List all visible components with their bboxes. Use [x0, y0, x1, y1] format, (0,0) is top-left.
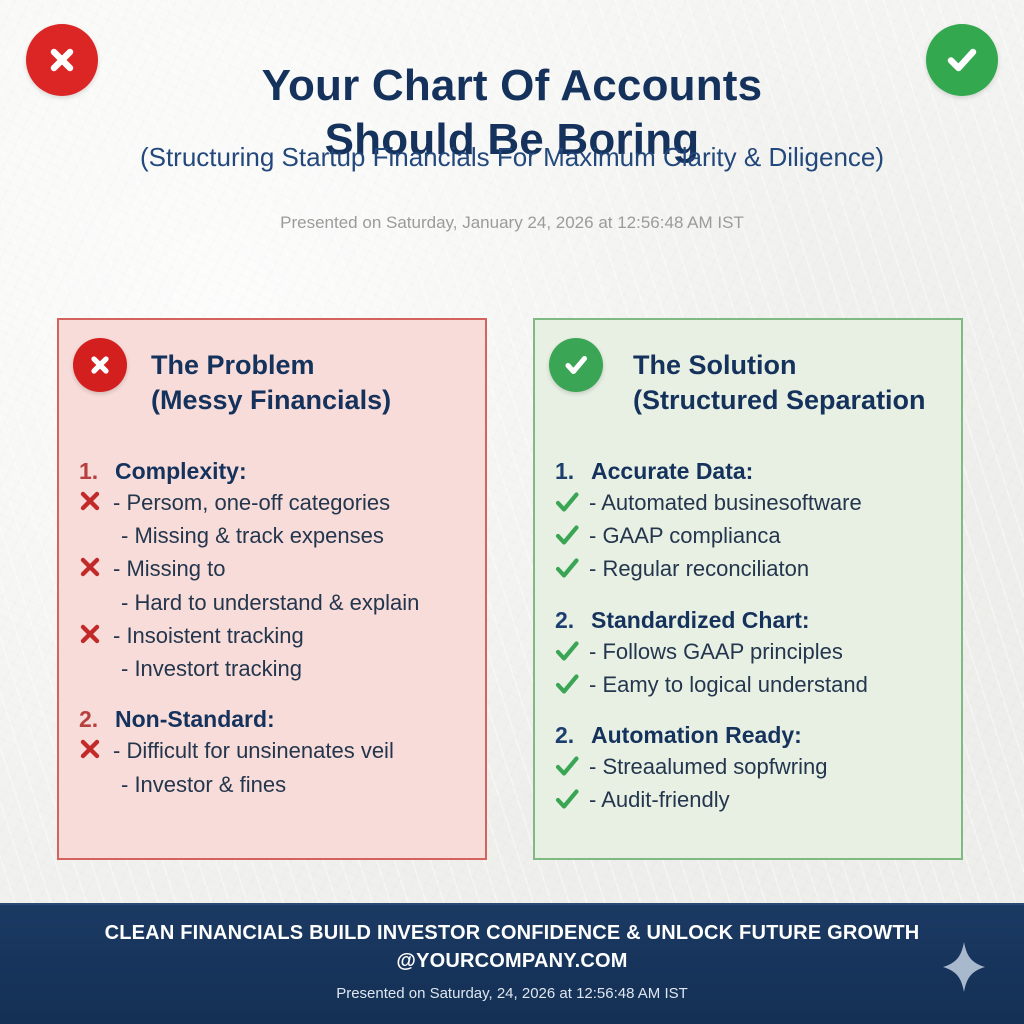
- check-mark-icon: [555, 487, 589, 514]
- list-item: - Insoistent tracking: [79, 620, 469, 651]
- footer-handle: @YOURCOMPANY.COM: [0, 947, 1024, 975]
- sparkle-icon: [940, 941, 988, 998]
- x-mark-icon: [79, 620, 113, 645]
- list-group-number: 1.: [555, 458, 591, 485]
- list-group-number: 1.: [79, 458, 115, 485]
- footer-timestamp: Presented on Saturday, 24, 2026 at 12:56…: [0, 985, 1024, 1002]
- list-group-label: Non-Standard:: [115, 706, 275, 733]
- list-item: - Investor & fines: [79, 769, 469, 800]
- problem-card: The Problem (Messy Financials) 1.Complex…: [57, 318, 487, 860]
- list-group-heading: 2.Non-Standard:: [79, 706, 469, 733]
- list-item: - Eamy to logical understand: [555, 669, 945, 700]
- check-mark-icon: [555, 784, 589, 811]
- list-item: - GAAP complianca: [555, 520, 945, 551]
- footer-headline-line-1: CLEAN FINANCIALS BUILD INVESTOR CONFIDEN…: [0, 919, 1024, 947]
- x-circle-icon: [73, 338, 127, 392]
- list-item-label: - Investor & fines: [121, 769, 469, 800]
- solution-card-title: The Solution (Structured Separation: [633, 346, 941, 417]
- check-circle-icon: [926, 24, 998, 96]
- list-item-label: - Automated businesoftware: [589, 487, 945, 518]
- check-mark-icon: [555, 636, 589, 663]
- solution-title-line-2: (Structured Separation: [633, 383, 941, 418]
- title-line-1: Your Chart Of Accounts: [120, 59, 904, 113]
- x-circle-icon: [26, 24, 98, 96]
- infographic-poster: Your Chart Of Accounts Should Be Boring …: [0, 0, 1024, 1024]
- list-item-label: - Audit-friendly: [589, 784, 945, 815]
- solution-title-line-1: The Solution: [633, 348, 941, 383]
- list-item-label: - Persom, one-off categories: [113, 487, 469, 518]
- list-item-label: - Insoistent tracking: [113, 620, 469, 651]
- list-item: - Difficult for unsinenates veil: [79, 735, 469, 766]
- problem-card-title: The Problem (Messy Financials): [151, 346, 465, 417]
- list-item-label: - Eamy to logical understand: [589, 669, 945, 700]
- list-item-label: - Missing to: [113, 553, 469, 584]
- x-mark-icon: [79, 553, 113, 578]
- list-item-label: - Investort tracking: [121, 653, 469, 684]
- x-mark-icon: [79, 487, 113, 512]
- x-mark-icon: [79, 735, 113, 760]
- check-mark-icon: [555, 669, 589, 696]
- list-group-heading: 1.Complexity:: [79, 458, 469, 485]
- list-item: - Audit-friendly: [555, 784, 945, 815]
- list-item: - Automated businesoftware: [555, 487, 945, 518]
- check-mark-icon: [555, 553, 589, 580]
- list-item-label: - Streaalumed sopfwring: [589, 751, 945, 782]
- list-group-label: Complexity:: [115, 458, 247, 485]
- list-item-label: - Hard to understand & explain: [121, 587, 469, 618]
- list-item-label: - Follows GAAP principles: [589, 636, 945, 667]
- page-subtitle: (Structuring Startup Financials For Maxi…: [62, 142, 962, 173]
- comparison-cards: The Problem (Messy Financials) 1.Complex…: [0, 318, 1024, 866]
- list-item-label: - Difficult for unsinenates veil: [113, 735, 469, 766]
- problem-title-line-2: (Messy Financials): [151, 383, 465, 418]
- list-group-number: 2.: [555, 607, 591, 634]
- list-group-label: Automation Ready:: [591, 722, 802, 749]
- list-item-label: - GAAP complianca: [589, 520, 945, 551]
- list-item: - Streaalumed sopfwring: [555, 751, 945, 782]
- list-item: - Missing to: [79, 553, 469, 584]
- list-group-label: Standardized Chart:: [591, 607, 810, 634]
- list-item: - Missing & track expenses: [79, 520, 469, 551]
- check-mark-icon: [555, 520, 589, 547]
- problem-list: 1.Complexity:- Persom, one-off categorie…: [79, 458, 469, 802]
- problem-title-line-1: The Problem: [151, 348, 465, 383]
- solution-list: 1.Accurate Data:- Automated businesoftwa…: [555, 458, 945, 818]
- list-group-heading: 1.Accurate Data:: [555, 458, 945, 485]
- footer-banner: CLEAN FINANCIALS BUILD INVESTOR CONFIDEN…: [0, 903, 1024, 1024]
- list-item: - Investort tracking: [79, 653, 469, 684]
- list-group-heading: 2.Automation Ready:: [555, 722, 945, 749]
- header: Your Chart Of Accounts Should Be Boring …: [0, 0, 1024, 300]
- list-group-label: Accurate Data:: [591, 458, 753, 485]
- list-item: - Regular reconciliaton: [555, 553, 945, 584]
- list-item: - Hard to understand & explain: [79, 587, 469, 618]
- list-item: - Follows GAAP principles: [555, 636, 945, 667]
- header-timestamp: Presented on Saturday, January 24, 2026 …: [0, 213, 1024, 233]
- check-circle-icon: [549, 338, 603, 392]
- check-mark-icon: [555, 751, 589, 778]
- solution-card: The Solution (Structured Separation 1.Ac…: [533, 318, 963, 860]
- list-group-heading: 2.Standardized Chart:: [555, 607, 945, 634]
- list-item: - Persom, one-off categories: [79, 487, 469, 518]
- footer-headline: CLEAN FINANCIALS BUILD INVESTOR CONFIDEN…: [0, 919, 1024, 975]
- list-item-label: - Regular reconciliaton: [589, 553, 945, 584]
- list-group-number: 2.: [555, 722, 591, 749]
- list-item-label: - Missing & track expenses: [121, 520, 469, 551]
- list-group-number: 2.: [79, 706, 115, 733]
